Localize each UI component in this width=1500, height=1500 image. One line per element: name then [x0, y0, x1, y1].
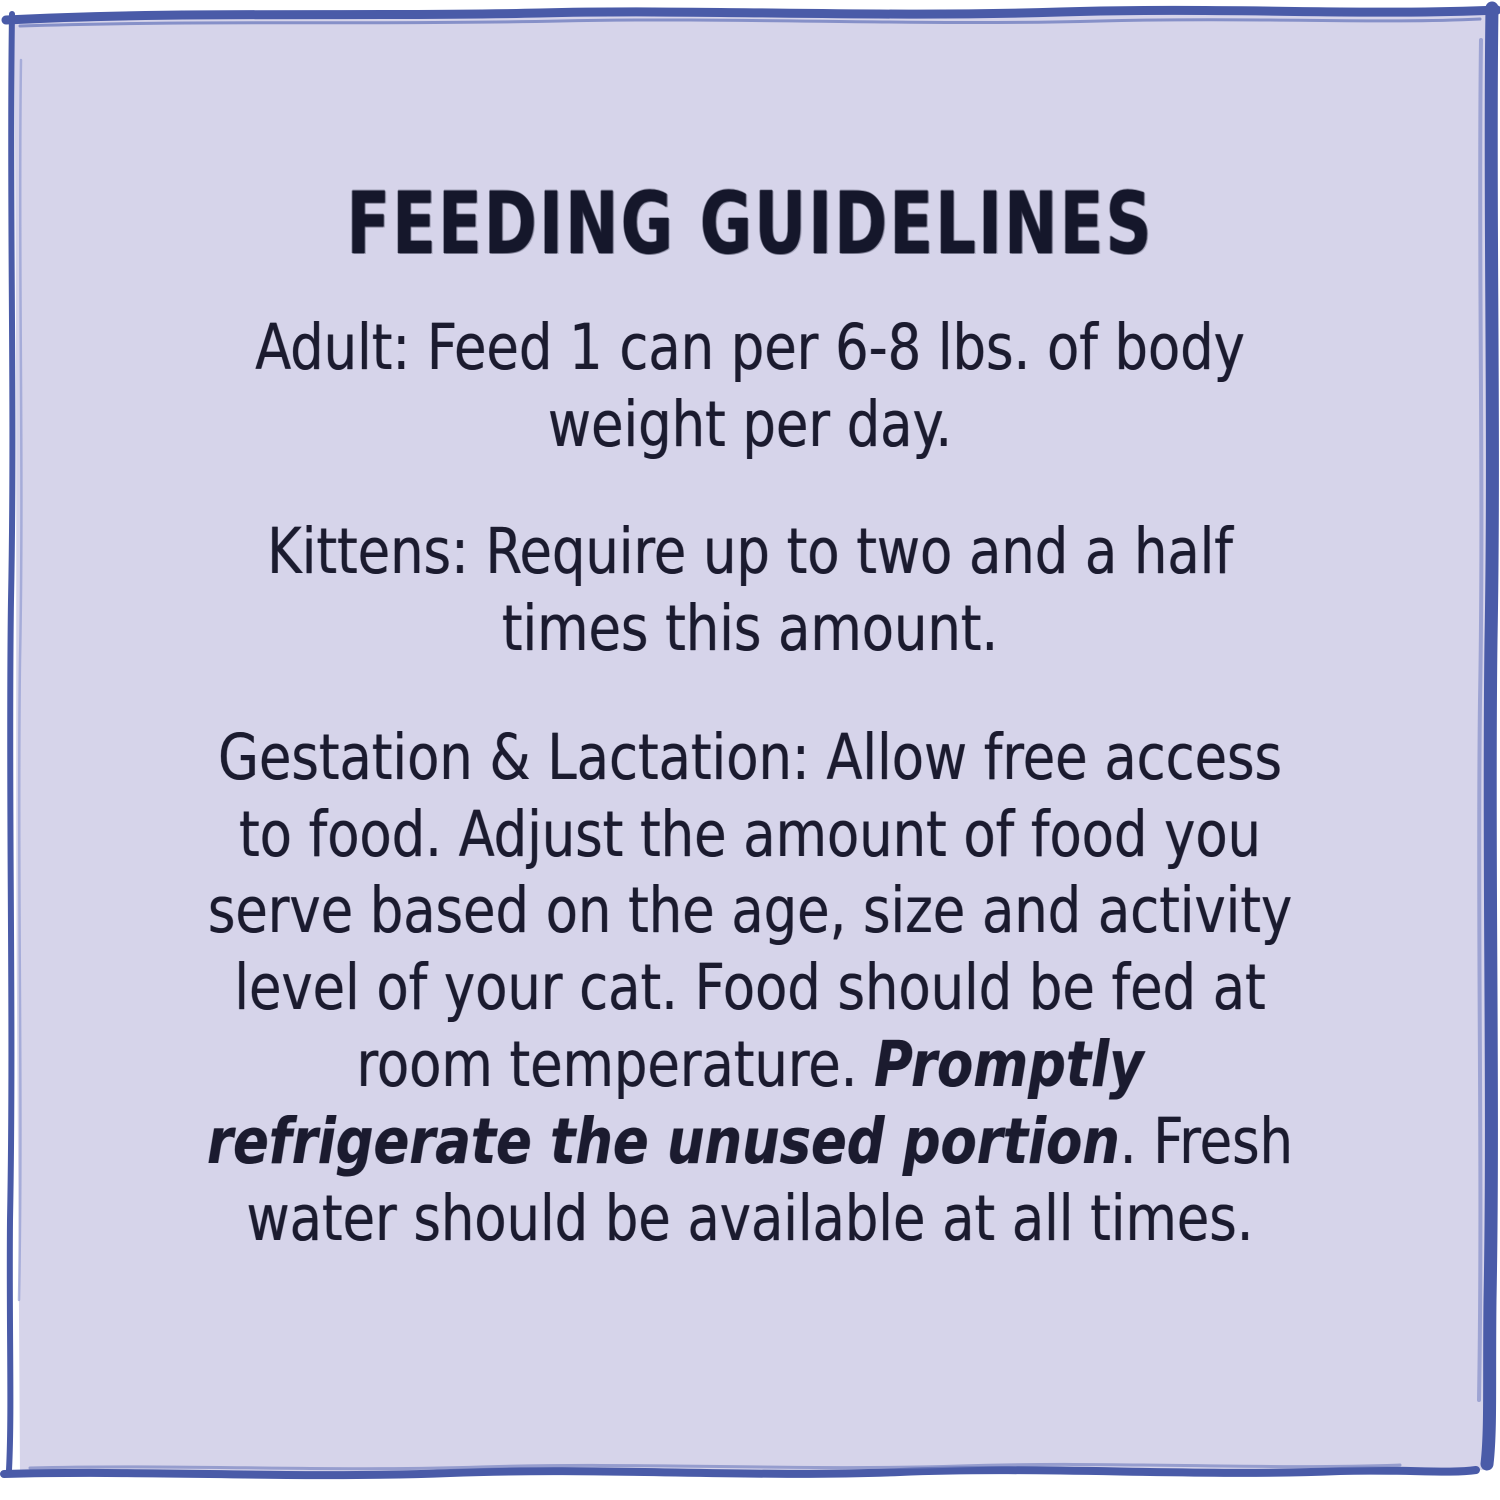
panel-content: FEEDING GUIDELINES Adult: Feed 1 can per… — [0, 0, 1500, 1500]
feeding-paragraph-kittens: Kittens: Require up to two and a half ti… — [201, 514, 1298, 668]
page-title: FEEDING GUIDELINES — [346, 182, 1153, 266]
feeding-guidelines-panel: FEEDING GUIDELINES Adult: Feed 1 can per… — [0, 0, 1500, 1500]
feeding-paragraph-gestation-lactation: Gestation & Lactation: Allow free access… — [201, 720, 1298, 1258]
feeding-paragraph-adult: Adult: Feed 1 can per 6-8 lbs. of body w… — [201, 310, 1298, 464]
